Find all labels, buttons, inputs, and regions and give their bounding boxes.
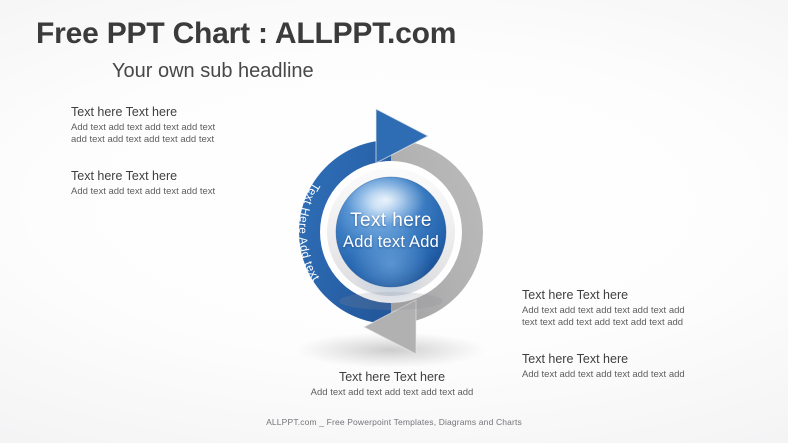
footer-credit: ALLPPT.com _ Free Powerpoint Templates, … — [0, 417, 788, 427]
text-block-right-upper: Text here Text here Add text add text ad… — [522, 288, 685, 328]
page-subtitle: Your own sub headline — [112, 60, 314, 83]
text-block-heading: Text here Text here — [522, 352, 685, 366]
slide-canvas: Free PPT Chart : ALLPPT.com Your own sub… — [0, 0, 788, 443]
center-sphere[interactable] — [336, 175, 446, 310]
page-title: Free PPT Chart : ALLPPT.com — [36, 17, 456, 51]
text-block-heading: Text here Text here — [71, 105, 215, 119]
text-block-line: Add text add text add text add text add — [232, 387, 552, 399]
text-block-heading: Text here Text here — [522, 288, 685, 302]
text-block-line: text text add text add text add text add — [522, 317, 685, 329]
text-block-line: Add text add text add text add text — [71, 122, 215, 134]
text-block-top-left: Text here Text here Add text add text ad… — [71, 105, 215, 145]
text-block-heading: Text here Text here — [71, 169, 215, 183]
text-block-line: Add text add text add text add text add — [522, 305, 685, 317]
text-block-line: add text add text add text add text — [71, 134, 215, 146]
text-block-bottom-left: Text here Text here Add text add text ad… — [71, 169, 215, 198]
text-block-line: Add text add text add text add text — [71, 186, 215, 198]
circular-arrow-diagram: Text Here Add text Text Here Add text Te… — [268, 88, 514, 384]
